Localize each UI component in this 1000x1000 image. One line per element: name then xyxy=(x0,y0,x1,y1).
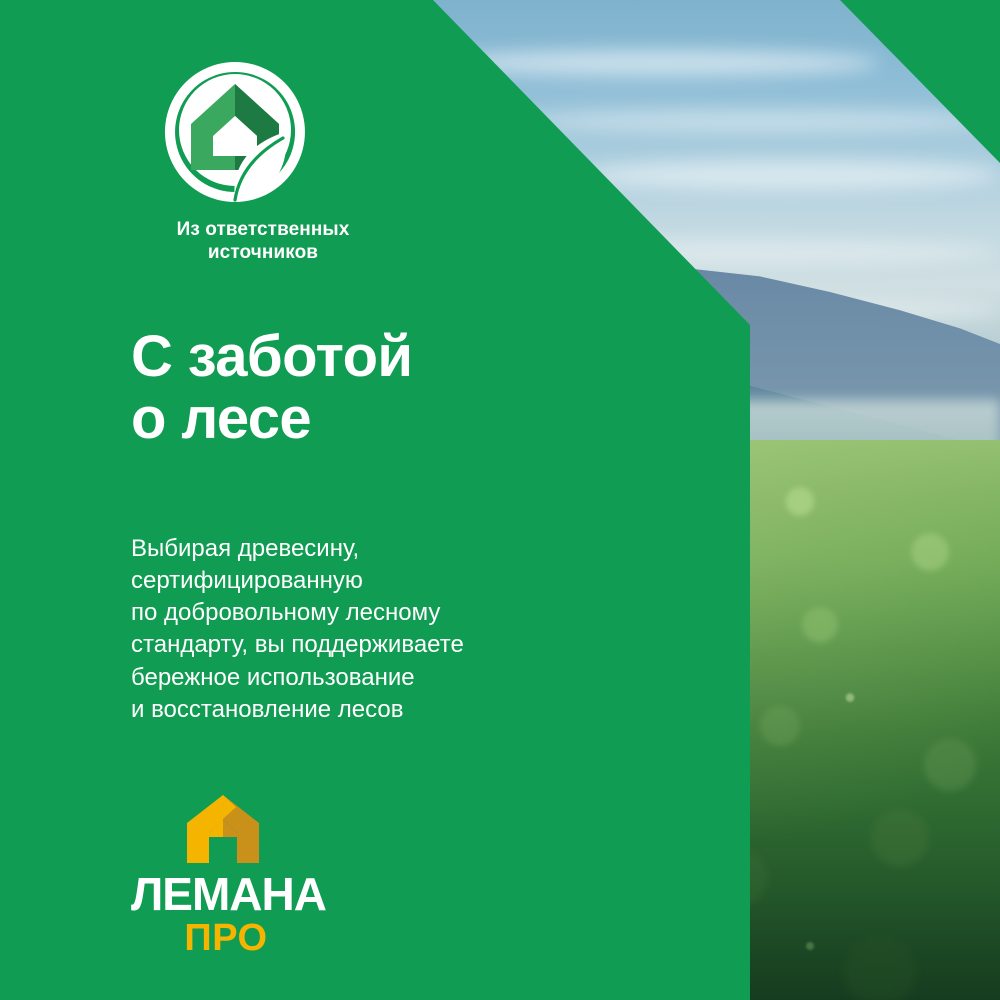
lemana-pro-logo: ЛЕМАНА ПРО xyxy=(131,793,321,957)
body-copy: Выбирая древесину, сертифицированную по … xyxy=(131,533,464,726)
poster-content: Из ответственных источников С заботой о … xyxy=(0,0,1000,1000)
badge-caption-line-1: Из ответственных xyxy=(128,218,398,241)
lemana-wordmark: ЛЕМАНА xyxy=(131,871,321,917)
badge-caption-line-2: источников xyxy=(128,241,398,264)
responsible-sources-badge: Из ответственных источников xyxy=(128,58,458,264)
body-line-2: сертифицированную xyxy=(131,565,464,597)
headline-line-1: С заботой xyxy=(131,326,412,388)
body-line-6: и восстановление лесов xyxy=(131,694,464,726)
headline-line-2: о лесе xyxy=(131,388,412,450)
gold-house-icon xyxy=(179,793,267,865)
poster-canvas: Из ответственных источников С заботой о … xyxy=(0,0,1000,1000)
headline: С заботой о лесе xyxy=(131,326,412,450)
body-line-1: Выбирая древесину, xyxy=(131,533,464,565)
body-line-5: бережное использование xyxy=(131,662,464,694)
badge-caption: Из ответственных источников xyxy=(128,218,398,264)
house-leaf-circle-icon xyxy=(161,58,309,206)
body-line-3: по добровольному лесному xyxy=(131,597,464,629)
body-line-4: стандарту, вы поддерживаете xyxy=(131,629,464,661)
pro-suffix: ПРО xyxy=(131,919,321,957)
